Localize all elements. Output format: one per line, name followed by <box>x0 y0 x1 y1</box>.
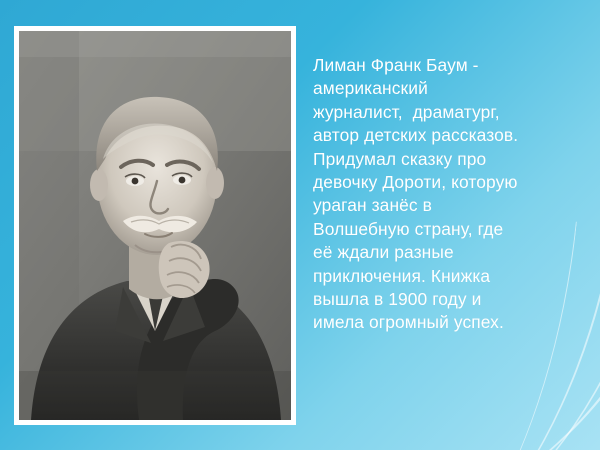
portrait-frame <box>14 26 296 425</box>
slide: Лиман Франк Баум - американский журналис… <box>0 0 600 450</box>
portrait-photo <box>19 31 291 420</box>
biography-text: Лиман Франк Баум - американский журналис… <box>313 54 581 335</box>
